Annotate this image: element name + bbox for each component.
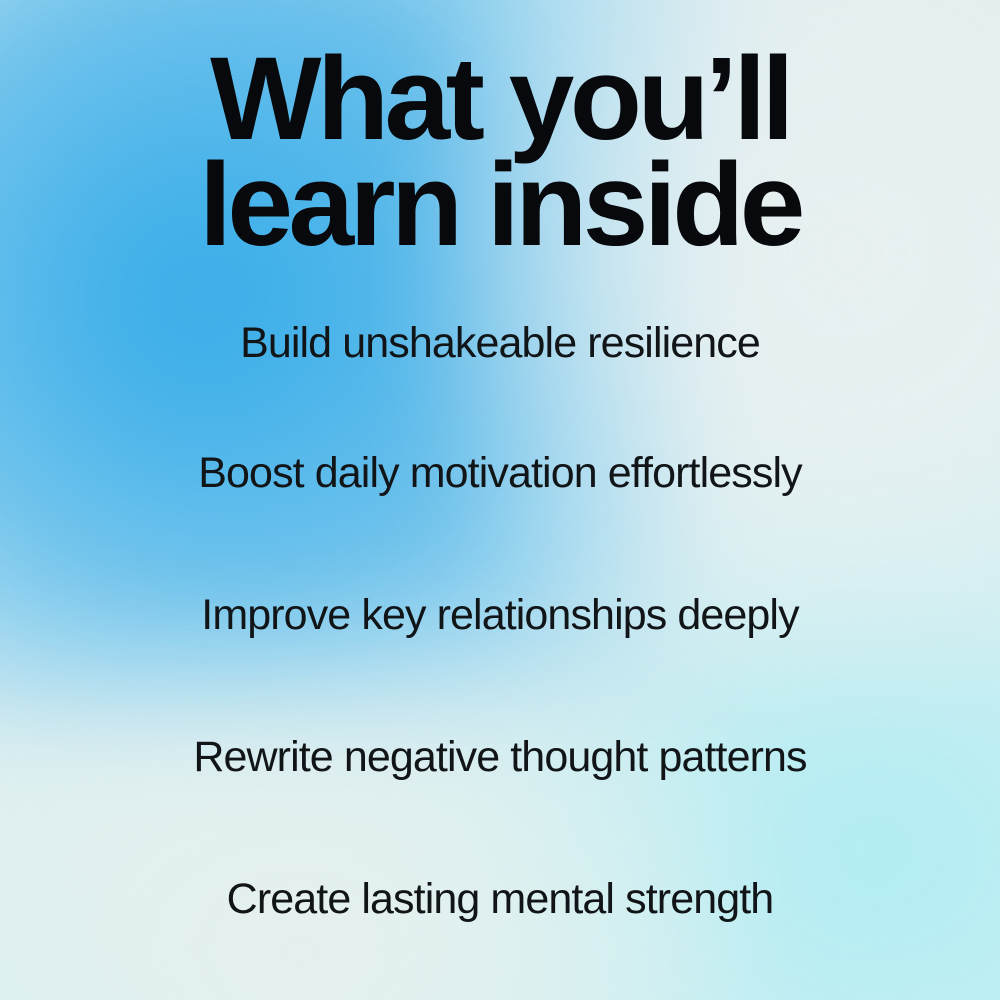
benefit-list: Build unshakeable resilience Boost daily… xyxy=(0,284,1000,970)
poster-content: What you’ll learn inside Build unshakeab… xyxy=(0,0,1000,1000)
benefit-item-1: Build unshakeable resilience xyxy=(0,284,1000,402)
page-title-line-1: What you’ll xyxy=(40,46,960,152)
benefit-item-4: Rewrite negative thought patterns xyxy=(0,686,1000,828)
page-title-line-2: learn inside xyxy=(40,152,960,258)
benefit-item-3: Improve key relationships deeply xyxy=(0,544,1000,686)
benefit-item-2: Boost daily motivation effortlessly xyxy=(0,402,1000,544)
page-title: What you’ll learn inside xyxy=(0,46,1000,258)
benefit-item-5: Create lasting mental strength xyxy=(0,828,1000,970)
poster-canvas: What you’ll learn inside Build unshakeab… xyxy=(0,0,1000,1000)
